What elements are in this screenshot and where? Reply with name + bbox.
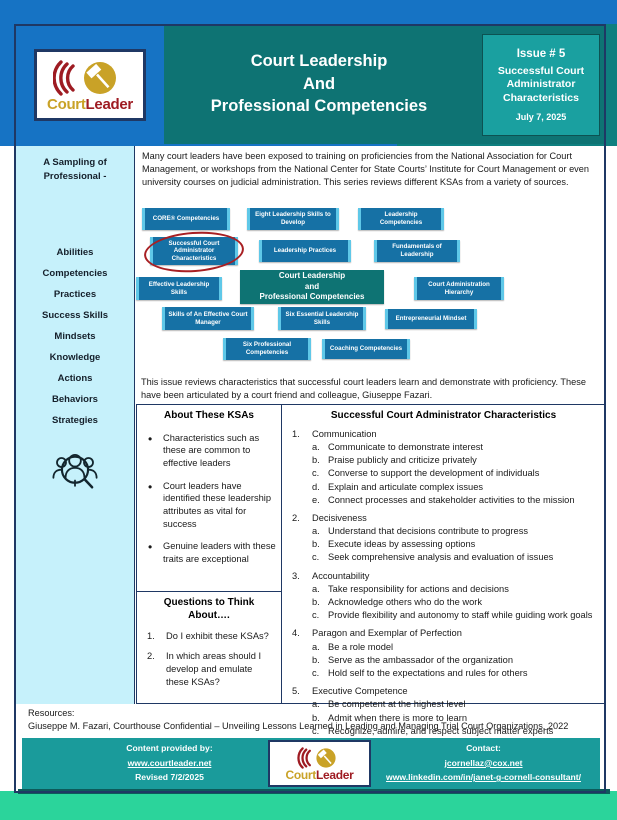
characteristic-subitem: b.Praise publicly and criticize privatel…: [286, 454, 601, 467]
characteristic-subitem: a.Take responsibility for actions and de…: [286, 583, 601, 596]
characteristic-subitem-letter: c.: [312, 667, 319, 680]
diagram-box: Court Administration Hierarchy: [414, 277, 504, 300]
characteristic-subitem-letter: c.: [312, 467, 319, 480]
characteristic-group: 4.Paragon and Exemplar of Perfectiona.Be…: [286, 627, 601, 680]
characteristic-number: 2.: [292, 512, 300, 525]
characteristic-subitem-letter: c.: [312, 551, 319, 564]
courtleader-website-link[interactable]: www.courtleader.net: [128, 758, 212, 768]
intro-paragraph: Many court leaders have been exposed to …: [136, 148, 606, 206]
characteristic-subitem: c.Provide flexibility and autonomy to st…: [286, 609, 601, 622]
about-ksas-cell: About These KSAs Characteristics such as…: [137, 405, 281, 591]
questions-heading-line-1: Questions to Think: [143, 597, 275, 610]
characteristic-subitem: c.Hold self to the expectations and rule…: [286, 667, 601, 680]
sidebar-item-strategies: Strategies: [20, 416, 130, 426]
content-table: About These KSAs Characteristics such as…: [136, 404, 606, 704]
revised-date: Revised 7/2/2025: [135, 773, 204, 782]
resources-citation: Giuseppe M. Fazari, Courthouse Confident…: [28, 720, 604, 733]
sidebar-item-abilities: Abilities: [20, 248, 130, 258]
characteristic-group: 3.Accountabilitya.Take responsibility fo…: [286, 570, 601, 623]
characteristic-subitem: a.Be a role model: [286, 641, 601, 654]
page-title: Court Leadership And Professional Compet…: [164, 34, 474, 134]
characteristic-number: 4.: [292, 627, 300, 640]
characteristic-subitem: a.Understand that decisions contribute t…: [286, 525, 601, 538]
logo-word-court: Court: [285, 768, 316, 782]
sidebar-item-knowledge: Knowledge: [20, 353, 130, 363]
issue-subtitle-line-1: Successful Court: [498, 65, 584, 79]
characteristic-subitem: b.Serve as the ambassador of the organiz…: [286, 654, 601, 667]
table-left-column: About These KSAs Characteristics such as…: [137, 405, 282, 703]
logo-word-leader: Leader: [86, 96, 133, 113]
questions-cell: Questions to Think About…. 1.Do I exhibi…: [137, 591, 281, 688]
diagram-box: Effective Leadership Skills: [136, 277, 222, 300]
leadin-paragraph: This issue reviews characteristics that …: [136, 374, 606, 404]
characteristic-subitem: a.Communicate to demonstrate interest: [286, 441, 601, 454]
issue-date: July 7, 2025: [516, 112, 567, 122]
highlight-ellipse-icon: [143, 229, 246, 276]
diagram-box: Eight Leadership Skills to Develop: [247, 208, 339, 230]
about-bullet-item: Characteristics such as these are common…: [141, 432, 277, 470]
title-line-2: And: [303, 73, 335, 95]
page-footer: Content provided by: www.courtleader.net…: [22, 738, 600, 789]
characteristic-subitem-letter: b.: [312, 596, 320, 609]
sidebar-item-behaviors: Behaviors: [20, 395, 130, 405]
question-number: 1.: [147, 630, 155, 643]
about-bullet-item: Court leaders have identified these lead…: [141, 480, 277, 531]
issue-subtitle-line-3: Characteristics: [498, 92, 584, 106]
questions-heading: Questions to Think About….: [137, 592, 281, 626]
logo-word-leader: Leader: [316, 768, 354, 782]
issue-badge: Issue # 5 Successful Court Administrator…: [482, 34, 600, 136]
footer-left: Content provided by: www.courtleader.net…: [52, 738, 287, 789]
table-right-column: Successful Court Administrator Character…: [282, 405, 605, 703]
about-heading: About These KSAs: [137, 405, 281, 426]
characteristic-title: 5.Executive Competence: [286, 685, 601, 698]
title-line-1: Court Leadership: [251, 50, 388, 72]
content-provided-label: Content provided by:: [126, 744, 212, 753]
sidebar-title-line-2: Professional -: [20, 170, 130, 184]
sidebar-item-mindsets: Mindsets: [20, 332, 130, 342]
characteristic-group: 2.Decisivenessa.Understand that decision…: [286, 512, 601, 565]
diagram-box: Fundamentals of Leadership: [374, 240, 460, 262]
characteristic-subitem-letter: e.: [312, 494, 320, 507]
logo-word-court: Court: [47, 96, 86, 113]
characteristic-subitem: d.Explain and articulate complex issues: [286, 481, 601, 494]
questions-list: 1.Do I exhibit these KSAs?2.In which are…: [137, 626, 281, 689]
question-item: 2.In which areas should I develop and em…: [139, 650, 277, 688]
question-item: 1.Do I exhibit these KSAs?: [139, 630, 277, 643]
diagram-box: Coaching Competencies: [322, 339, 410, 359]
characteristic-subitem: b.Acknowledge others who do the work: [286, 596, 601, 609]
diagram-box: Skills of An Effective Court Manager: [162, 307, 254, 330]
sidebar-item-competencies: Competencies: [20, 269, 130, 279]
characteristic-title: 1.Communication: [286, 428, 601, 441]
characteristic-number: 5.: [292, 685, 300, 698]
competency-sources-diagram: Court Leadership and Professional Compet…: [136, 204, 606, 372]
diagram-center-box: Court Leadership and Professional Compet…: [240, 270, 384, 304]
issue-subtitle-line-2: Administrator: [498, 78, 584, 92]
sidebar-item-practices: Practices: [20, 290, 130, 300]
gavel-circle-logo-icon: [53, 58, 127, 98]
diagram-box: Entrepreneurial Mindset: [385, 309, 477, 329]
questions-heading-line-2: About….: [143, 610, 275, 623]
issue-number: Issue # 5: [517, 48, 566, 60]
bottom-green-band: [0, 791, 617, 820]
title-line-3: Professional Competencies: [211, 95, 427, 117]
resources-label: Resources:: [28, 707, 604, 720]
diagram-box: Leadership Competencies: [358, 208, 444, 230]
question-number: 2.: [147, 650, 155, 663]
about-bullet-list: Characteristics such as these are common…: [137, 426, 281, 566]
center-box-line-1: Court Leadership: [260, 271, 365, 281]
characteristic-number: 3.: [292, 570, 300, 583]
characteristic-subitem-letter: a.: [312, 525, 320, 538]
characteristic-subitem-letter: a.: [312, 441, 320, 454]
diagram-box: Six Professional Competencies: [223, 338, 311, 360]
diagram-box: Leadership Practices: [259, 240, 351, 262]
sidebar-item-list: AbilitiesCompetenciesPracticesSuccess Sk…: [20, 248, 130, 426]
logo-wordmark: CourtLeader: [285, 769, 353, 781]
contact-label: Contact:: [466, 744, 501, 753]
characteristics-heading: Successful Court Administrator Character…: [282, 405, 605, 426]
newsletter-page: CourtLeader Court Leadership And Profess…: [0, 0, 617, 820]
characteristic-subitem: b.Execute ideas by assessing options: [286, 538, 601, 551]
sidebar-title: A Sampling of Professional -: [20, 156, 130, 185]
resources-section: Resources: Giuseppe M. Fazari, Courthous…: [16, 704, 604, 738]
issue-subtitle: Successful Court Administrator Character…: [498, 65, 584, 106]
characteristic-subitem: e.Connect processes and stakeholder acti…: [286, 494, 601, 507]
courtleader-logo: CourtLeader: [34, 49, 146, 121]
linkedin-profile-link[interactable]: www.linkedin.com/in/janet-g-cornell-cons…: [386, 772, 581, 782]
characteristic-subitem-letter: b.: [312, 454, 320, 467]
contact-email-link[interactable]: jcornellaz@cox.net: [444, 758, 522, 768]
characteristic-subitem: c.Converse to support the development of…: [286, 467, 601, 480]
characteristic-subitem-letter: a.: [312, 583, 320, 596]
characteristic-title: 2.Decisiveness: [286, 512, 601, 525]
gavel-circle-logo-icon: [291, 746, 349, 770]
sidebar: A Sampling of Professional - AbilitiesCo…: [16, 146, 135, 704]
people-search-icon: [20, 448, 130, 495]
characteristic-subitem-letter: c.: [312, 609, 319, 622]
characteristic-subitem: c.Seek comprehensive analysis and evalua…: [286, 551, 601, 564]
diagram-box: Six Essential Leadership Skills: [278, 307, 366, 330]
characteristic-title: 4.Paragon and Exemplar of Perfection: [286, 627, 601, 640]
characteristic-group: 1.Communicationa.Communicate to demonstr…: [286, 428, 601, 507]
sidebar-item-actions: Actions: [20, 374, 130, 384]
characteristic-number: 1.: [292, 428, 300, 441]
footer-right: Contact: jcornellaz@cox.net www.linkedin…: [367, 738, 600, 789]
page-header: CourtLeader Court Leadership And Profess…: [16, 26, 604, 144]
diagram-box: CORE® Competencies: [142, 208, 230, 230]
sidebar-title-line-1: A Sampling of: [20, 156, 130, 170]
center-box-line-3: Professional Competencies: [260, 292, 365, 302]
characteristic-subitem-letter: a.: [312, 641, 320, 654]
characteristic-subitem-letter: b.: [312, 538, 320, 551]
center-box-line-2: and: [260, 282, 365, 292]
logo-wordmark: CourtLeader: [47, 97, 133, 112]
sidebar-item-success-skills: Success Skills: [20, 311, 130, 321]
characteristic-subitem-letter: b.: [312, 654, 320, 667]
characteristic-title: 3.Accountability: [286, 570, 601, 583]
footer-courtleader-logo: CourtLeader: [268, 740, 371, 787]
characteristics-list: 1.Communicationa.Communicate to demonstr…: [282, 426, 605, 738]
characteristic-subitem-letter: d.: [312, 481, 320, 494]
about-bullet-item: Genuine leaders with these traits are ex…: [141, 540, 277, 565]
